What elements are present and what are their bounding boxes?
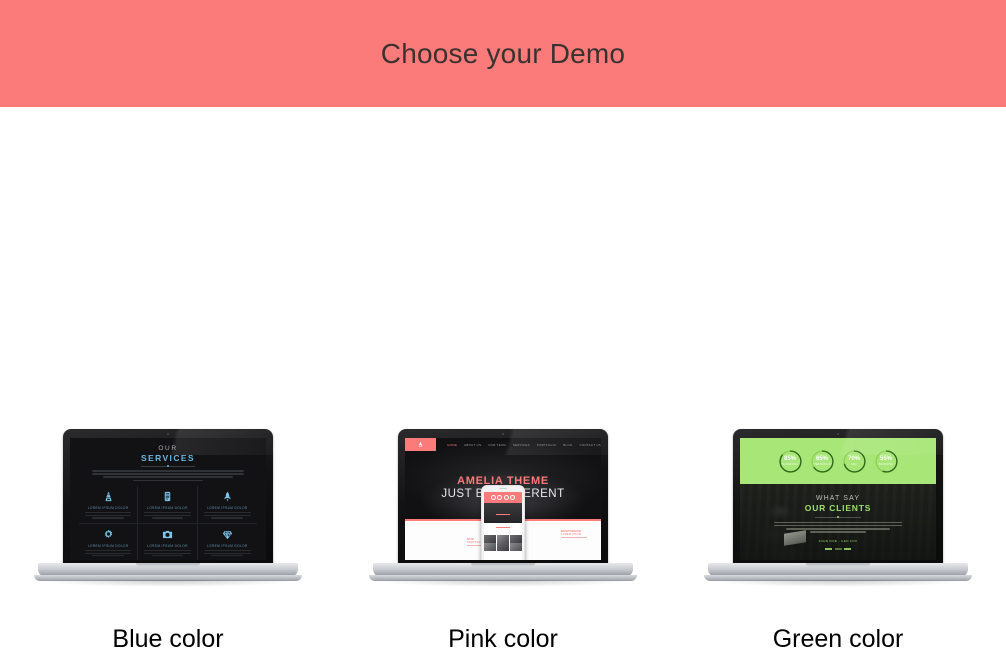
services-header: OUR SERVICES [79, 445, 257, 481]
services-heading: SERVICES [79, 453, 257, 463]
service-label: LOREM IPSUM DOLOR [141, 506, 193, 510]
camera-icon [141, 528, 193, 541]
service-label: LOREM IPSUM DOLOR [201, 506, 254, 510]
laptop-lid: HOME ABOUT US OUR TEAM SERVICES PORTFOLI… [398, 429, 608, 566]
service-text [201, 512, 254, 518]
services-intro-text [92, 470, 244, 481]
progress-dial: 70% SEO [842, 449, 867, 474]
service-text [82, 512, 134, 518]
service-cell[interactable]: LOREM IPSUM DOLOR [79, 486, 138, 524]
service-label: LOREM IPSUM DOLOR [141, 544, 193, 548]
laptop-shadow [375, 580, 631, 587]
webcam-icon [837, 433, 839, 435]
skills-band: 85% MARKETING 65% WEB DESIGN [740, 438, 936, 484]
page-title: Choose your Demo [381, 38, 625, 70]
service-cell[interactable]: LOREM IPSUM DOLOR [198, 486, 257, 524]
service-cell[interactable]: LOREM IPSUM DOLOR [138, 524, 197, 560]
testimonial-quote [774, 522, 902, 533]
demo-caption-blue[interactable]: Blue color [0, 625, 336, 654]
diamond-icon [201, 528, 254, 541]
laptop-shadow [40, 580, 296, 587]
hero-page: HOME ABOUT US OUR TEAM SERVICES PORTFOLI… [405, 438, 601, 560]
progress-dial-value: 65% [816, 456, 828, 462]
progress-dial: 65% WEB DESIGN [810, 449, 835, 474]
service-text [82, 550, 134, 556]
demo-card-pink[interactable]: HOME ABOUT US OUR TEAM SERVICES PORTFOLI… [335, 429, 671, 654]
progress-dial-value: 55% [880, 456, 892, 462]
services-page: OUR SERVICES LOREM IPSUM DOLOR [70, 438, 266, 560]
testimonial-author: JOHN DOE - CEO FOX [740, 539, 936, 543]
progress-dial: 55% BRANDING [874, 449, 899, 474]
divider [141, 466, 195, 467]
laptop-mockup-green[interactable]: 85% MARKETING 65% WEB DESIGN [670, 429, 1006, 589]
phone-section-title [484, 523, 522, 534]
laptop-mockup-pink[interactable]: HOME ABOUT US OUR TEAM SERVICES PORTFOLI… [335, 429, 671, 589]
divider [815, 517, 861, 518]
gear-icon [82, 528, 134, 541]
laptop-lid: OUR SERVICES LOREM IPSUM DOLOR [63, 429, 273, 566]
nav-item-services[interactable]: SERVICES [513, 443, 530, 447]
webcam-icon [167, 433, 169, 435]
laptop-screen-green: 85% MARKETING 65% WEB DESIGN [740, 438, 936, 560]
testimonial-text-block: WHAT SAY OUR CLIENTS JOHN DOE - CEO FOX [740, 495, 936, 549]
service-label: LOREM IPSUM DOLOR [201, 544, 254, 548]
nav-item-our-team[interactable]: OUR TEAM [488, 443, 506, 447]
phone-portfolio-grid [484, 534, 522, 552]
testimonial-band: WHAT SAY OUR CLIENTS JOHN DOE - CEO FOX [740, 484, 936, 560]
progress-dial-content: 85% MARKETING [778, 449, 803, 474]
service-cell[interactable]: LOREM IPSUM DOLOR [79, 524, 138, 560]
progress-dial: 85% MARKETING [778, 449, 803, 474]
phone-screen [484, 492, 522, 560]
phone-dials-band [484, 492, 522, 503]
nav-item-blog[interactable]: BLOG [563, 443, 572, 447]
callout-right: RESPONSIVE LOREM IPSUM [561, 529, 587, 539]
nav-item-portfolio[interactable]: PORTFOLIO [537, 443, 556, 447]
services-grid: LOREM IPSUM DOLOR LOREM IPSUM DOLOR [79, 486, 257, 560]
progress-dial-content: 70% SEO [842, 449, 867, 474]
server-icon [141, 490, 193, 503]
service-text [141, 512, 193, 518]
laptop-screen-blue: OUR SERVICES LOREM IPSUM DOLOR [70, 438, 266, 560]
laptop-mockup-blue[interactable]: OUR SERVICES LOREM IPSUM DOLOR [0, 429, 336, 589]
service-label: LOREM IPSUM DOLOR [82, 544, 134, 548]
demo-caption-green[interactable]: Green color [670, 625, 1006, 654]
phone-hero-band [484, 503, 522, 523]
lighthouse-icon [82, 490, 134, 503]
rocket-icon [201, 490, 254, 503]
services-eyebrow: OUR [79, 445, 257, 452]
carousel-dots[interactable] [740, 548, 936, 550]
laptop-shadow [710, 580, 966, 587]
progress-dial-label: MARKETING [782, 463, 798, 466]
amelia-logo-icon[interactable] [405, 438, 436, 451]
laptop-lid: 85% MARKETING 65% WEB DESIGN [733, 429, 943, 566]
demo-list: OUR SERVICES LOREM IPSUM DOLOR [0, 107, 1006, 655]
progress-dial-label: SEO [851, 463, 857, 466]
progress-dial-label: WEB DESIGN [813, 463, 830, 466]
progress-dial-content: 65% WEB DESIGN [810, 449, 835, 474]
clients-page: 85% MARKETING 65% WEB DESIGN [740, 438, 936, 560]
nav-item-home[interactable]: HOME [447, 443, 457, 447]
progress-dial-value: 70% [848, 456, 860, 462]
nav-item-about-us[interactable]: ABOUT US [464, 443, 481, 447]
page-header: Choose your Demo [0, 0, 1006, 107]
service-label: LOREM IPSUM DOLOR [82, 506, 134, 510]
service-cell[interactable]: LOREM IPSUM DOLOR [198, 524, 257, 560]
nav-menu: HOME ABOUT US OUR TEAM SERVICES PORTFOLI… [436, 443, 601, 447]
service-text [201, 550, 254, 556]
callout-right-sub: LOREM IPSUM [561, 533, 581, 536]
progress-dial-content: 55% BRANDING [874, 449, 899, 474]
progress-dial-label: BRANDING [879, 463, 893, 466]
testimonial-heading: OUR CLIENTS [740, 503, 936, 513]
service-cell[interactable]: LOREM IPSUM DOLOR [138, 486, 197, 524]
phone-mockup [481, 485, 525, 560]
laptop-screen-pink: HOME ABOUT US OUR TEAM SERVICES PORTFOLI… [405, 438, 601, 560]
webcam-icon [502, 433, 504, 435]
service-text [141, 550, 193, 556]
testimonial-eyebrow: WHAT SAY [740, 495, 936, 502]
site-navbar: HOME ABOUT US OUR TEAM SERVICES PORTFOLI… [405, 438, 601, 451]
demo-card-green[interactable]: 85% MARKETING 65% WEB DESIGN [670, 429, 1006, 654]
demo-caption-pink[interactable]: Pink color [335, 625, 671, 654]
nav-item-contact-us[interactable]: CONTACT US [579, 443, 601, 447]
demo-card-blue[interactable]: OUR SERVICES LOREM IPSUM DOLOR [0, 429, 336, 654]
progress-dial-value: 85% [784, 456, 796, 462]
